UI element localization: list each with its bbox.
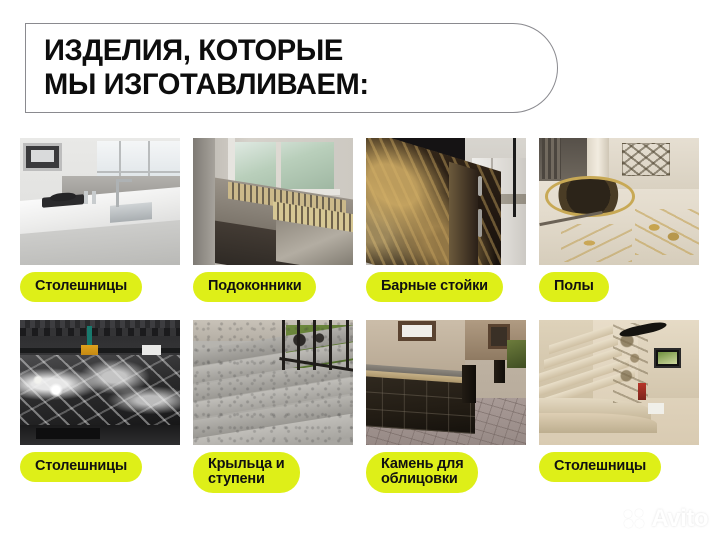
granite-porch-steps-photo bbox=[193, 320, 353, 445]
product-row: Столешницы Подоконники bbox=[0, 138, 720, 302]
product-label: Полы bbox=[539, 272, 609, 302]
product-card-countertops-1[interactable]: Столешницы bbox=[20, 138, 180, 302]
product-label: Столешницы bbox=[20, 272, 142, 302]
product-card-facing-stone[interactable]: Камень для облицовки bbox=[366, 320, 526, 493]
product-grid: Столешницы Подоконники bbox=[0, 138, 720, 493]
product-label: Столешницы bbox=[20, 452, 142, 482]
product-card-porches-steps[interactable]: Крыльца и ступени bbox=[193, 320, 353, 493]
product-card-floors[interactable]: Полы bbox=[539, 138, 699, 302]
marble-slab-warehouse-photo bbox=[20, 320, 180, 445]
page-title-line-2: МЫ ИЗГОТАВЛИВАЕМ: bbox=[44, 68, 542, 102]
avito-dots-icon bbox=[624, 509, 646, 529]
header-title-pill: ИЗДЕЛИЯ, КОТОРЫЕ МЫ ИЗГОТАВЛИВАЕМ: bbox=[25, 23, 558, 113]
granite-windowsill-photo bbox=[193, 138, 353, 265]
marble-staircase-photo bbox=[539, 320, 699, 445]
avito-wordmark: Avito bbox=[651, 505, 708, 533]
product-card-countertops-2[interactable]: Столешницы bbox=[20, 320, 180, 493]
product-card-bar-counters[interactable]: Барные стойки bbox=[366, 138, 526, 302]
product-card-windowsills[interactable]: Подоконники bbox=[193, 138, 353, 302]
product-card-countertops-3[interactable]: Столешницы bbox=[539, 320, 699, 493]
product-label: Подоконники bbox=[193, 272, 316, 302]
kitchen-white-countertop-photo bbox=[20, 138, 180, 265]
avito-watermark: Avito bbox=[624, 505, 708, 533]
product-label: Барные стойки bbox=[366, 272, 503, 302]
dark-marble-bar-counter-photo bbox=[366, 138, 526, 265]
product-label: Камень для облицовки bbox=[366, 452, 478, 493]
product-label: Столешницы bbox=[539, 452, 661, 482]
page-title-line-1: ИЗДЕЛИЯ, КОТОРЫЕ bbox=[44, 34, 542, 68]
ornate-marble-floor-photo bbox=[539, 138, 699, 265]
stone-facade-cladding-photo bbox=[366, 320, 526, 445]
product-row: Столешницы Крыльца и ступени bbox=[0, 320, 720, 493]
product-label: Крыльца и ступени bbox=[193, 452, 300, 493]
